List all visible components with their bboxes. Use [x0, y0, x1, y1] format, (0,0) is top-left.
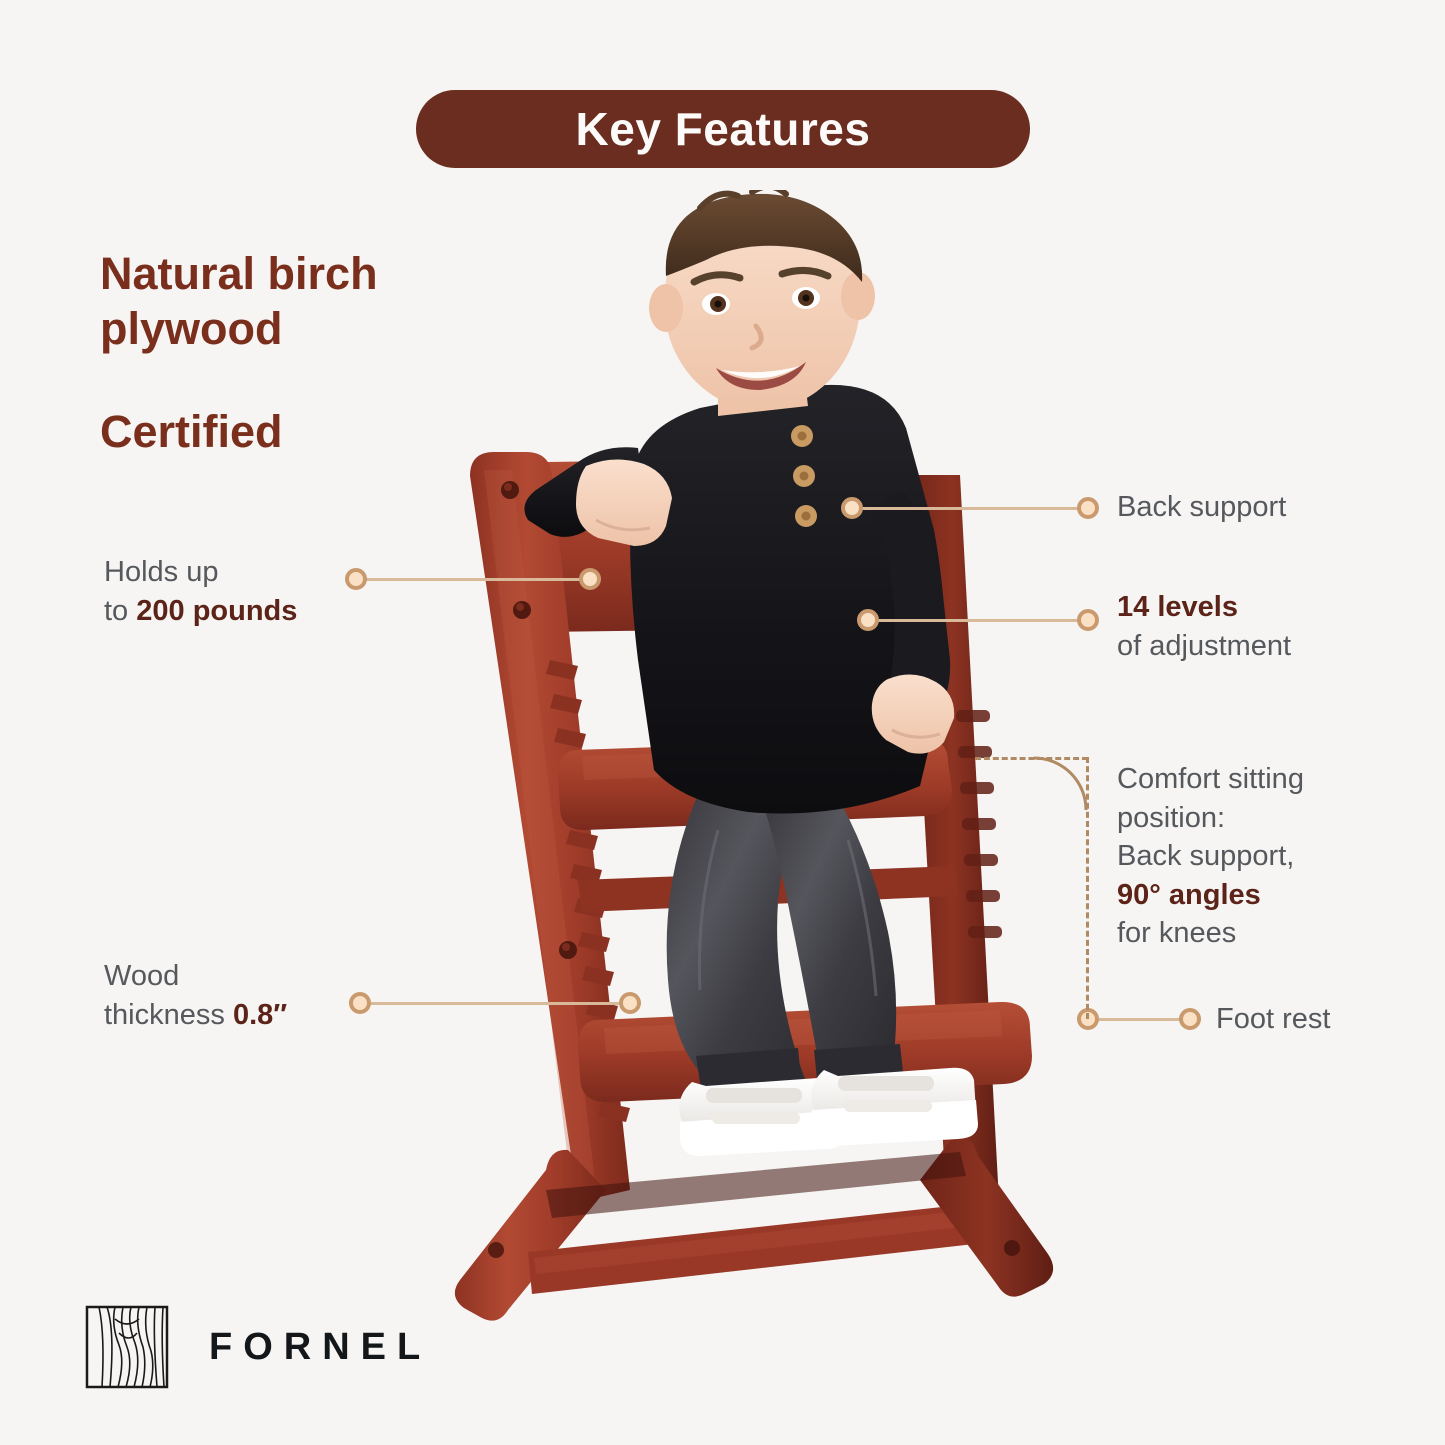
- callout-wood-thickness-line1: Wood: [104, 957, 394, 996]
- callout-comfort-line5: for knees: [1117, 914, 1427, 953]
- callout-holds-up: Holds up to 200 pounds: [104, 553, 374, 630]
- callout-holds-up-prefix: to: [104, 595, 136, 627]
- callout-wood-thickness: Wood thickness 0.8″: [104, 957, 394, 1034]
- callout-levels-rest: of adjustment: [1117, 627, 1427, 666]
- callout-holds-up-line1: Holds up: [104, 553, 374, 592]
- page-title: Key Features: [576, 102, 871, 156]
- callout-foot-rest: Foot rest: [1216, 1000, 1436, 1039]
- right-angle-arc-icon: [1032, 756, 1092, 818]
- callout-levels: 14 levels of adjustment: [1117, 588, 1427, 665]
- callout-comfort-line1: Comfort sitting: [1117, 760, 1427, 799]
- callout-holds-up-emphasis: 200 pounds: [136, 595, 297, 627]
- callout-levels-emphasis: 14 levels: [1117, 588, 1427, 627]
- leader-line-levels: [868, 619, 1088, 622]
- leader-line-back-support: [852, 507, 1088, 510]
- leader-dot-levels-label: [1077, 609, 1099, 631]
- brand-wordmark: FORNEL: [209, 1326, 431, 1369]
- leader-dot-back-support-label: [1077, 497, 1099, 519]
- callout-wood-thickness-emphasis: 0.8″: [233, 999, 287, 1031]
- callout-back-support: Back support: [1117, 488, 1417, 527]
- leader-dot-back-support-anchor: [841, 497, 863, 519]
- callout-foot-rest-text: Foot rest: [1216, 1000, 1436, 1039]
- callout-comfort-emphasis: 90° angles: [1117, 876, 1427, 915]
- callout-holds-up-line2: to 200 pounds: [104, 592, 374, 631]
- page-title-badge: Key Features: [416, 90, 1030, 168]
- callout-back-support-text: Back support: [1117, 488, 1417, 527]
- callout-comfort-position: Comfort sitting position: Back support, …: [1117, 760, 1427, 953]
- leader-line-wood-thickness: [360, 1002, 630, 1005]
- wood-grain-square-icon: [85, 1305, 169, 1389]
- leader-line-holds-up: [356, 578, 590, 581]
- leader-line-foot-rest: [1088, 1018, 1190, 1021]
- callout-wood-thickness-line2: thickness 0.8″: [104, 996, 394, 1035]
- leader-dot-levels-anchor: [857, 609, 879, 631]
- infographic-canvas: Key Features Natural birch plywood Certi…: [0, 0, 1445, 1445]
- leader-dot-holds-up-anchor: [579, 568, 601, 590]
- callout-comfort-line3: Back support,: [1117, 837, 1427, 876]
- callout-comfort-line2: position:: [1117, 799, 1427, 838]
- callout-wood-thickness-prefix: thickness: [104, 999, 233, 1031]
- leader-dot-foot-rest-label: [1179, 1008, 1201, 1030]
- product-illustration: [400, 190, 1100, 1350]
- brand-logo: FORNEL: [85, 1305, 431, 1389]
- leader-dot-wood-thickness-anchor: [619, 992, 641, 1014]
